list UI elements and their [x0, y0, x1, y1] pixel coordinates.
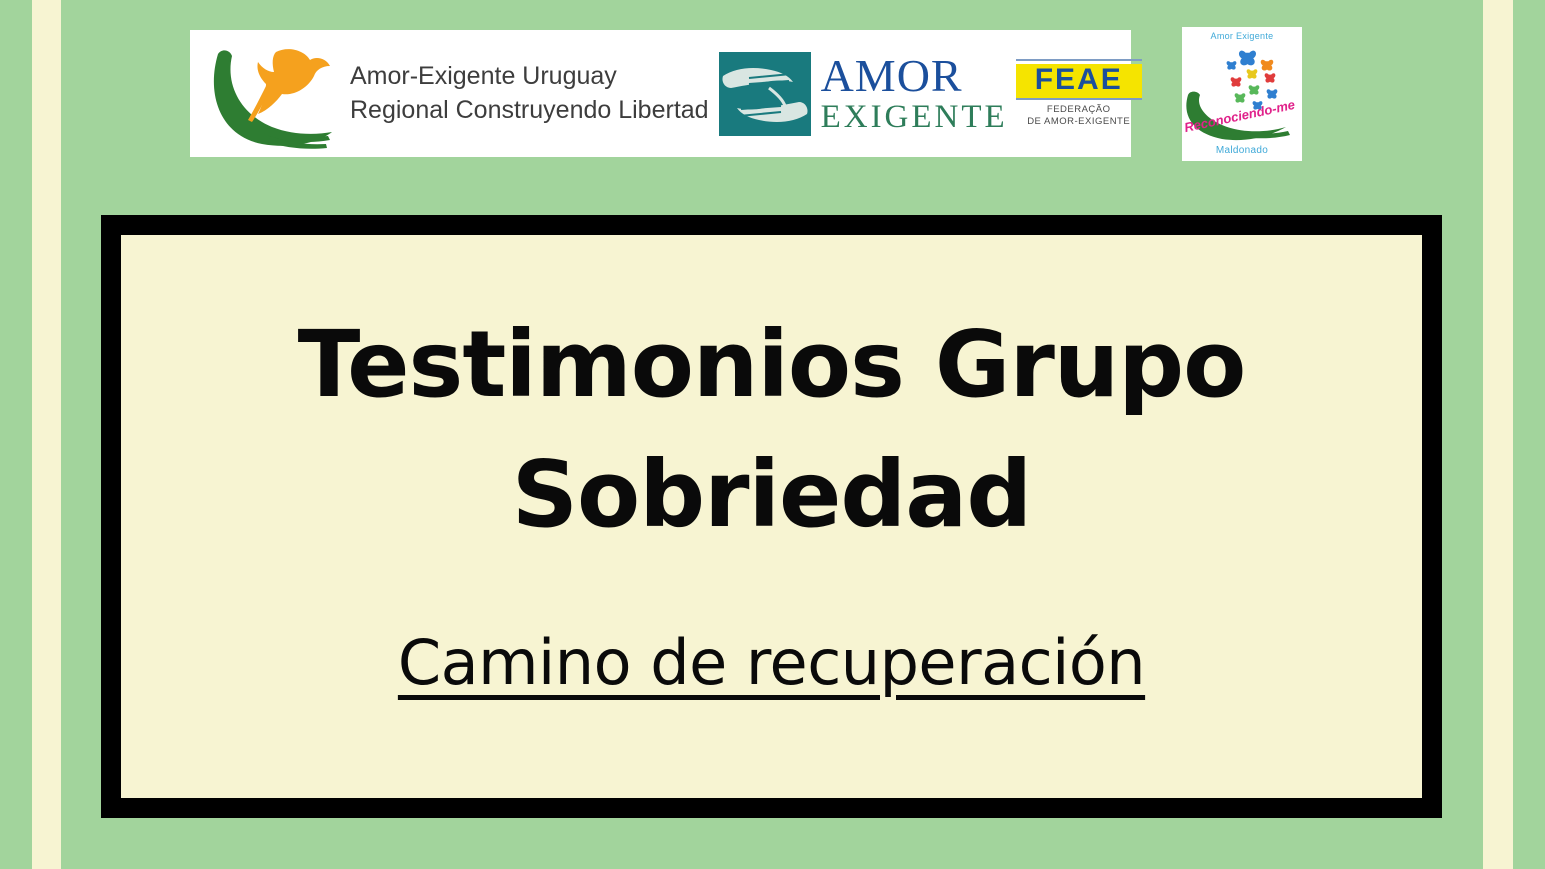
amor-exigente-uruguay-logo: Amor-Exigente Uruguay Regional Construye…	[190, 36, 709, 152]
clasped-hands-icon	[719, 52, 811, 136]
feae-rule-bottom	[1016, 98, 1142, 100]
amor-exigente-uruguay-text: Amor-Exigente Uruguay Regional Construye…	[350, 60, 709, 127]
decorative-band-left	[32, 0, 61, 869]
ae-uy-line-1: Amor-Exigente Uruguay	[350, 60, 709, 93]
page-subtitle: Camino de recuperación	[398, 629, 1145, 697]
feae-sub-line-1: FEDERAÇÃO	[1016, 104, 1142, 116]
feae-sub-line-2: DE AMOR-EXIGENTE	[1016, 116, 1142, 128]
amor-word: AMOR	[821, 53, 1008, 99]
title-content-box: Testimonios Grupo Sobriedad Camino de re…	[101, 215, 1442, 818]
page-title-line-1: Testimonios Grupo	[298, 300, 1246, 431]
decorative-band-far-right	[1513, 0, 1545, 869]
reconociendo-me-maldonado-logo: Amor Exigente	[1182, 27, 1302, 161]
page-title-line-2: Sobriedad	[512, 430, 1031, 561]
title-content-inner: Testimonios Grupo Sobriedad Camino de re…	[121, 235, 1422, 798]
exigente-word: EXIGENTE	[821, 101, 1008, 134]
reconociendo-top-text: Amor Exigente	[1182, 31, 1302, 41]
amor-exigente-logo: AMOR EXIGENTE FEAE FEDERAÇÃO DE AMOR-EXI…	[719, 52, 1142, 136]
amor-exigente-wordmark: AMOR EXIGENTE	[821, 53, 1008, 134]
presentation-slide: Amor-Exigente Uruguay Regional Construye…	[0, 0, 1545, 869]
ae-uy-line-2: Regional Construyendo Libertad	[350, 94, 709, 127]
hummingbird-hand-icon	[204, 36, 336, 152]
feae-logo: FEAE FEDERAÇÃO DE AMOR-EXIGENTE	[1016, 59, 1142, 128]
feae-subtitle: FEDERAÇÃO DE AMOR-EXIGENTE	[1016, 104, 1142, 128]
feae-chip: FEAE	[1016, 64, 1142, 98]
reconociendo-bottom-text: Maldonado	[1182, 145, 1302, 156]
decorative-band-right	[1483, 0, 1513, 869]
logo-banner: Amor-Exigente Uruguay Regional Construye…	[190, 30, 1131, 157]
feae-rule	[1016, 59, 1142, 61]
